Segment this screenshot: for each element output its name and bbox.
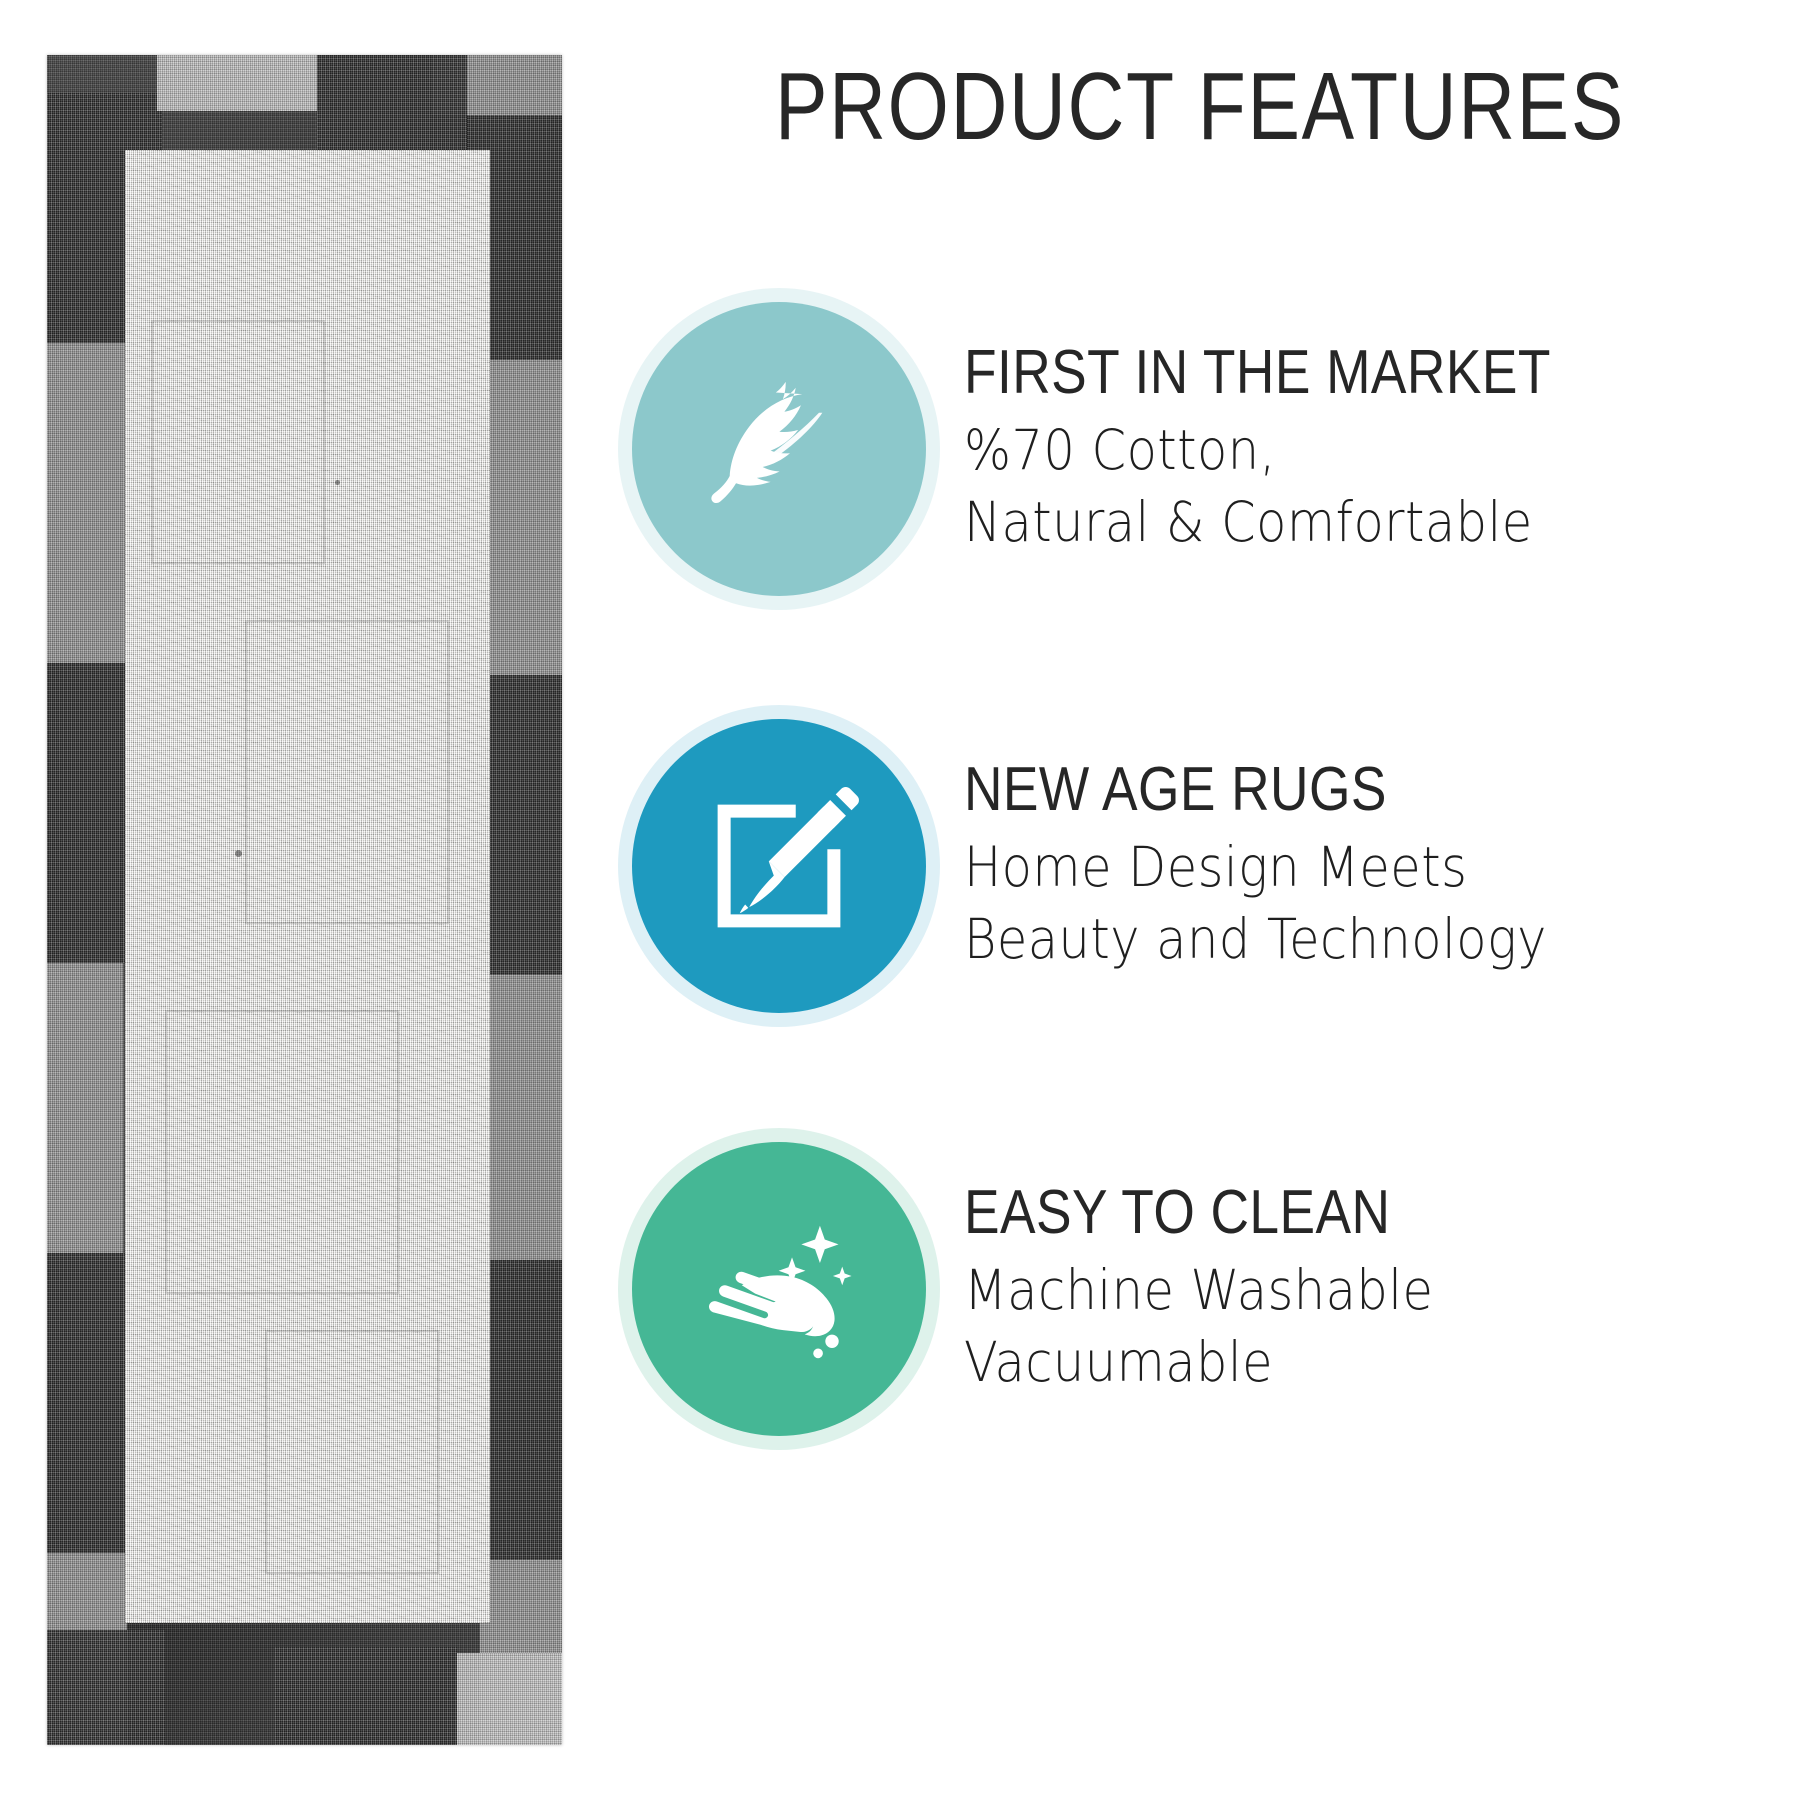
feature-line: Beauty and Technology xyxy=(964,904,1715,976)
feature-line: Vacuumable xyxy=(964,1327,1715,1399)
feature-item-new-age-rugs: NEW AGE RUGS Home Design Meets Beauty an… xyxy=(618,705,1798,1027)
feature-text: FIRST IN THE MARKET %70 Cotton, Natural … xyxy=(964,340,1798,558)
rug-inner-panel xyxy=(125,150,490,1623)
cleaning-hand-icon xyxy=(632,1142,926,1436)
feature-text: EASY TO CLEAN Machine Washable Vacuumabl… xyxy=(964,1180,1798,1398)
rug-border-block xyxy=(47,1630,165,1745)
rug-inner-motif xyxy=(245,620,449,924)
feature-heading: NEW AGE RUGS xyxy=(964,757,1681,822)
feature-line: Home Design Meets xyxy=(964,832,1715,904)
rug-border-block xyxy=(47,343,129,663)
feature-line: Machine Washable xyxy=(964,1255,1715,1327)
rug-inner-motif xyxy=(151,320,325,564)
product-image-panel xyxy=(47,55,562,1745)
rug-inner-speck xyxy=(235,850,242,857)
rug-border-block xyxy=(484,360,562,675)
rug-product-photo xyxy=(47,55,562,1745)
rug-inner-speck xyxy=(335,480,340,485)
pen-design-icon xyxy=(632,719,926,1013)
feature-line: Natural & Comfortable xyxy=(964,487,1715,559)
rug-border-block xyxy=(317,55,467,151)
feature-icon-wrap xyxy=(618,1128,940,1450)
rug-border-block xyxy=(275,1647,457,1745)
rug-border-block xyxy=(157,55,317,111)
rug-border-block xyxy=(457,1653,562,1745)
feature-icon-wrap xyxy=(618,705,940,1027)
feature-item-first-in-the-market: FIRST IN THE MARKET %70 Cotton, Natural … xyxy=(618,288,1798,610)
feather-icon xyxy=(632,302,926,596)
features-content: PRODUCT FEATURES FIRST IN THE MARKET %70… xyxy=(600,0,1800,1800)
feature-heading: FIRST IN THE MARKET xyxy=(964,340,1681,405)
feature-text: NEW AGE RUGS Home Design Meets Beauty an… xyxy=(964,757,1798,975)
feature-line: %70 Cotton, xyxy=(964,415,1715,487)
rug-inner-motif xyxy=(165,1010,399,1294)
feature-item-easy-to-clean: EASY TO CLEAN Machine Washable Vacuumabl… xyxy=(618,1128,1798,1450)
rug-border-block xyxy=(47,963,123,1253)
rug-inner-motif xyxy=(265,1330,439,1574)
feature-icon-wrap xyxy=(618,288,940,610)
rug-border-block xyxy=(488,975,562,1260)
feature-heading: EASY TO CLEAN xyxy=(964,1180,1681,1245)
infographic-page: PRODUCT FEATURES FIRST IN THE MARKET %70… xyxy=(0,0,1800,1800)
page-title: PRODUCT FEATURES xyxy=(708,52,1692,162)
